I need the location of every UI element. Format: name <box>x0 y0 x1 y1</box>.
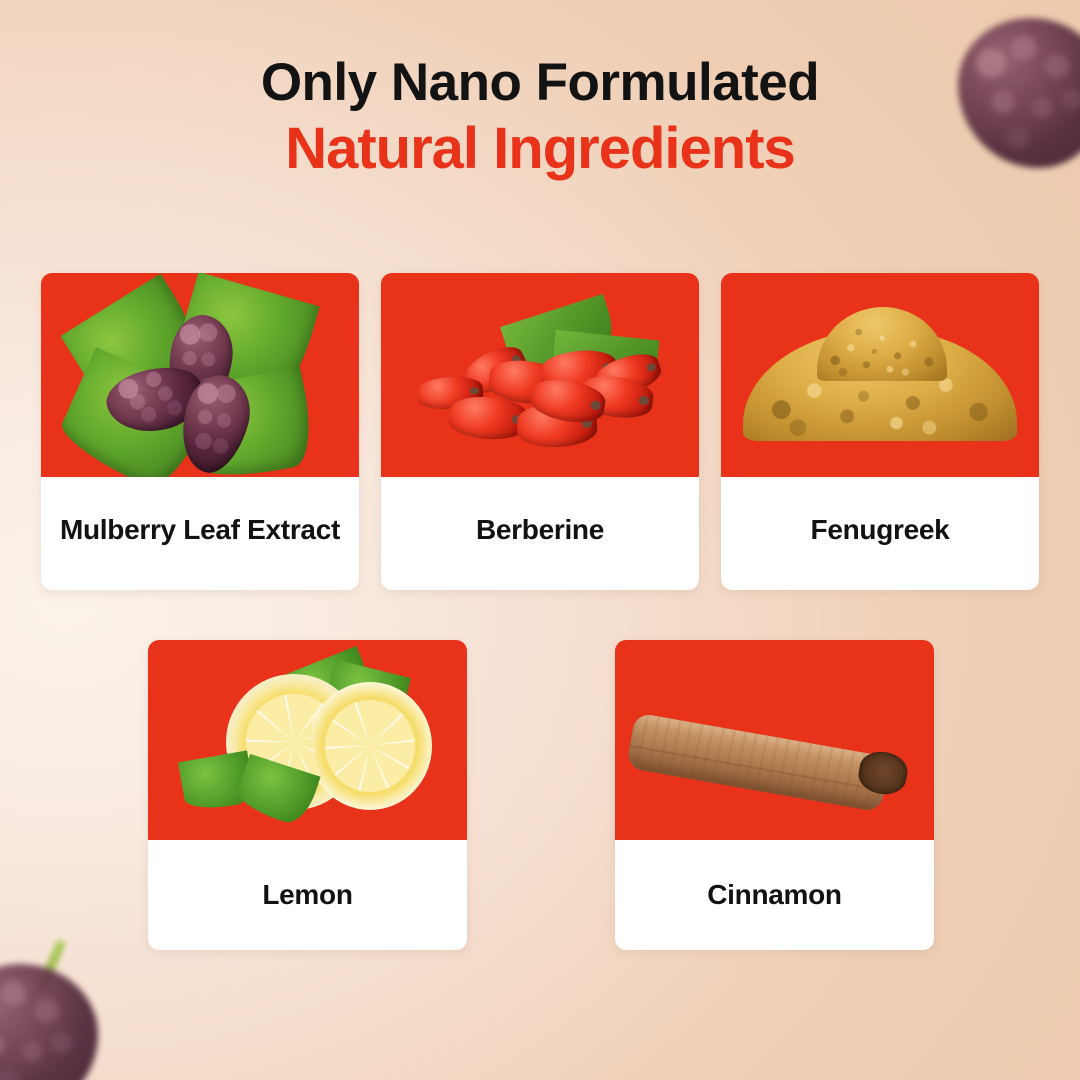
ingredient-card-row-bottom: Lemon Cinnamon <box>148 640 934 950</box>
mulberry-decoration-bottom-left-icon <box>0 930 138 1080</box>
headline-primary: Only Nano Formulated <box>0 56 1080 110</box>
ingredient-card-label: Mulberry Leaf Extract <box>41 477 359 590</box>
headline-accent: Natural Ingredients <box>0 119 1080 178</box>
berberine-image <box>381 273 699 477</box>
ingredient-card-berberine[interactable]: Berberine <box>381 273 699 590</box>
ingredient-card-row-top: Mulberry Leaf Extract Berberin <box>40 273 1040 590</box>
ingredient-card-fenugreek[interactable]: Fenugreek <box>721 273 1039 590</box>
ingredient-card-cinnamon[interactable]: Cinnamon <box>615 640 934 950</box>
poster-heading-block: Only Nano Formulated Natural Ingredients <box>0 56 1080 178</box>
ingredient-card-label: Fenugreek <box>721 477 1039 590</box>
mulberry-leaf-extract-image <box>41 273 359 477</box>
ingredient-card-mulberry-leaf-extract[interactable]: Mulberry Leaf Extract <box>41 273 359 590</box>
cinnamon-image <box>615 640 934 840</box>
lemon-image <box>148 640 467 840</box>
ingredient-card-label: Lemon <box>148 840 467 950</box>
fenugreek-image <box>721 273 1039 477</box>
ingredient-card-lemon[interactable]: Lemon <box>148 640 467 950</box>
ingredients-poster: Only Nano Formulated Natural Ingredients… <box>0 0 1080 1080</box>
ingredient-card-label: Cinnamon <box>615 840 934 950</box>
ingredient-card-label: Berberine <box>381 477 699 590</box>
